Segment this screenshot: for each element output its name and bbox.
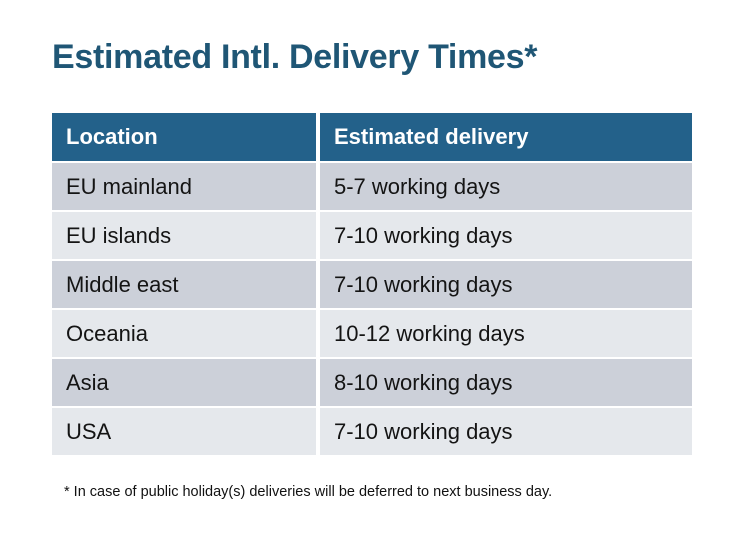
delivery-times-table: Location Estimated delivery EU mainland … — [52, 113, 692, 455]
table-row: Oceania 10-12 working days — [52, 310, 692, 357]
table-header-row: Location Estimated delivery — [52, 113, 692, 161]
table-row: Middle east 7-10 working days — [52, 261, 692, 308]
column-header-estimated-delivery: Estimated delivery — [320, 113, 692, 161]
table-row: EU mainland 5-7 working days — [52, 163, 692, 210]
cell-location: EU mainland — [52, 163, 316, 210]
cell-estimated-delivery: 7-10 working days — [320, 261, 692, 308]
cell-estimated-delivery: 8-10 working days — [320, 359, 692, 406]
cell-location: EU islands — [52, 212, 316, 259]
footnote-text: * In case of public holiday(s) deliverie… — [64, 482, 552, 502]
table-row: EU islands 7-10 working days — [52, 212, 692, 259]
cell-location: USA — [52, 408, 316, 455]
cell-location: Asia — [52, 359, 316, 406]
cell-estimated-delivery: 7-10 working days — [320, 408, 692, 455]
delivery-times-panel: Estimated Intl. Delivery Times* Location… — [0, 0, 745, 536]
cell-estimated-delivery: 10-12 working days — [320, 310, 692, 357]
column-header-location: Location — [52, 113, 316, 161]
cell-estimated-delivery: 7-10 working days — [320, 212, 692, 259]
table-row: USA 7-10 working days — [52, 408, 692, 455]
page-title: Estimated Intl. Delivery Times* — [52, 36, 537, 78]
cell-location: Oceania — [52, 310, 316, 357]
cell-location: Middle east — [52, 261, 316, 308]
table-row: Asia 8-10 working days — [52, 359, 692, 406]
cell-estimated-delivery: 5-7 working days — [320, 163, 692, 210]
